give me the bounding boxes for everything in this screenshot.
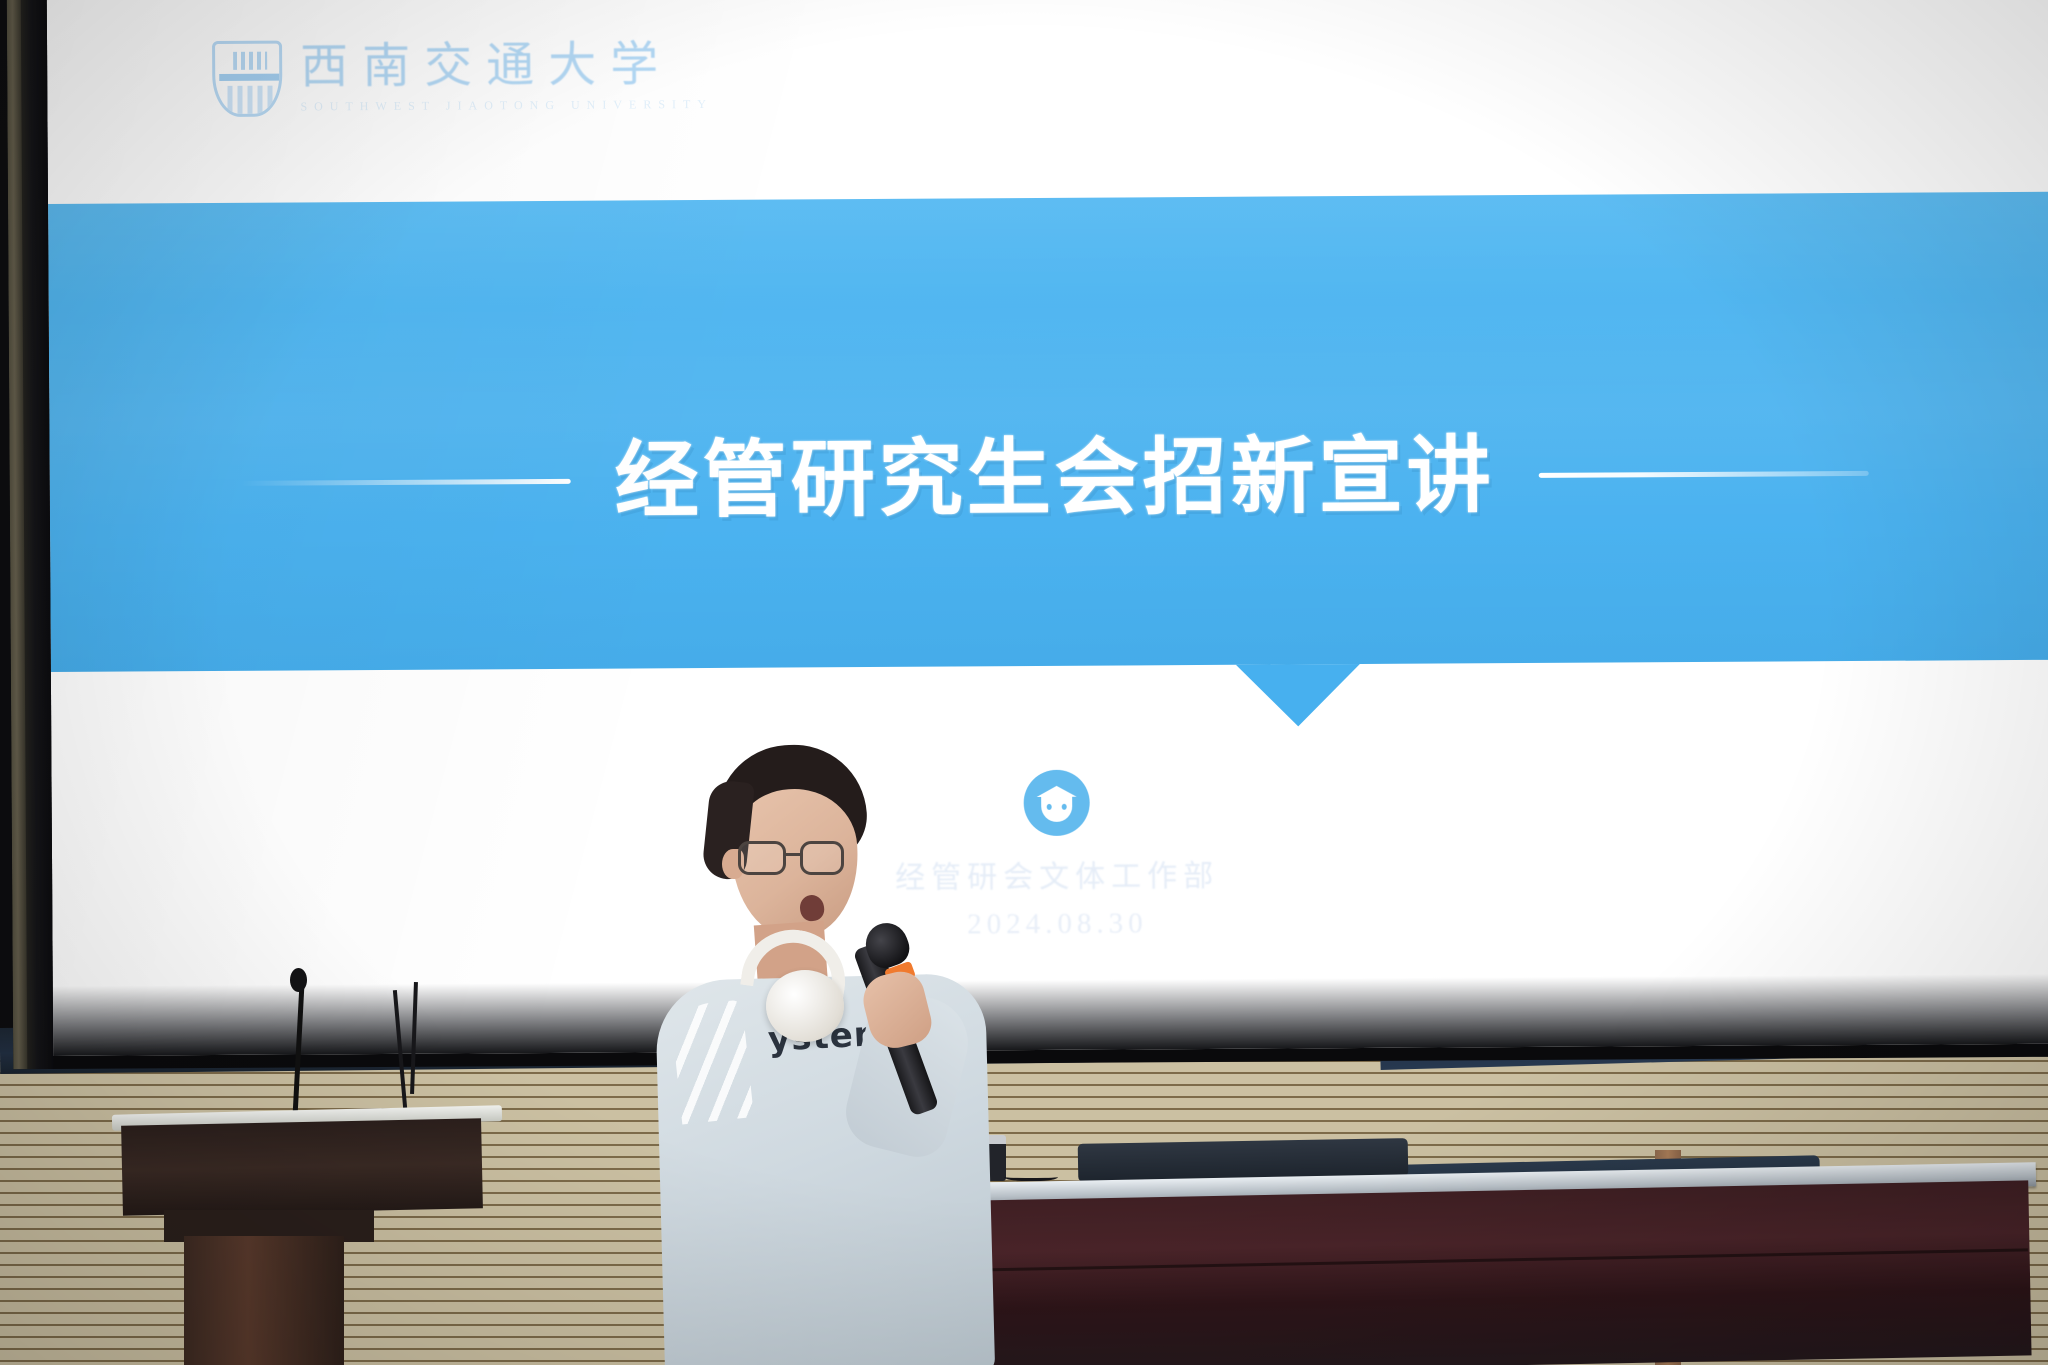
slide-bottom-fade: [53, 974, 2048, 1056]
university-name-block: 西南交通大学 SOUTHWEST JIAOTONG UNIVERSITY: [300, 40, 713, 114]
glasses-bridge: [785, 853, 801, 856]
wooden-lectern: [112, 1110, 502, 1365]
lectern-column: [184, 1236, 344, 1365]
slide-title-row: 经管研究生会招新宣讲: [49, 412, 2048, 544]
title-rule-left: [241, 478, 571, 485]
title-rule-right: [1539, 470, 1869, 477]
cap-eye-right: [1062, 804, 1067, 810]
headphone-earcup: [766, 970, 844, 1042]
university-logo: 西南交通大学 SOUTHWEST JIAOTONG UNIVERSITY: [212, 38, 713, 117]
cap-face-shape: [1041, 797, 1072, 822]
shirt-shoulder-stripes: [670, 1000, 754, 1125]
projection-screen: 西南交通大学 SOUTHWEST JIAOTONG UNIVERSITY 经管研…: [7, 0, 2048, 1069]
glasses-lens-left: [738, 841, 786, 875]
presentation-slide: 西南交通大学 SOUTHWEST JIAOTONG UNIVERSITY 经管研…: [47, 0, 2048, 1056]
seal-detail: [227, 86, 273, 116]
university-name-zh: 西南交通大学: [300, 40, 713, 91]
cap-eye-left: [1047, 804, 1052, 810]
lectern-microphone-head: [290, 968, 307, 992]
graduation-cap-badge-icon: [1023, 770, 1089, 836]
slide-footer-block: 经管研会文体工作部 2024.08.30: [52, 764, 2048, 947]
glasses-lens-right: [800, 841, 844, 875]
university-name-en: SOUTHWEST JIAOTONG UNIVERSITY: [300, 96, 713, 114]
university-seal-icon: [212, 41, 282, 117]
slide-title: 经管研究生会招新宣讲: [614, 433, 1495, 522]
presenter: ysten: [660, 745, 1020, 1365]
cap-top-shape: [1037, 786, 1077, 797]
photo-scene: 西南交通大学 SOUTHWEST JIAOTONG UNIVERSITY 经管研…: [0, 0, 2048, 1365]
band-notch-arrow: [1236, 664, 1360, 727]
lectern-front-panel: [121, 1118, 483, 1216]
presenter-glasses: [738, 841, 860, 875]
